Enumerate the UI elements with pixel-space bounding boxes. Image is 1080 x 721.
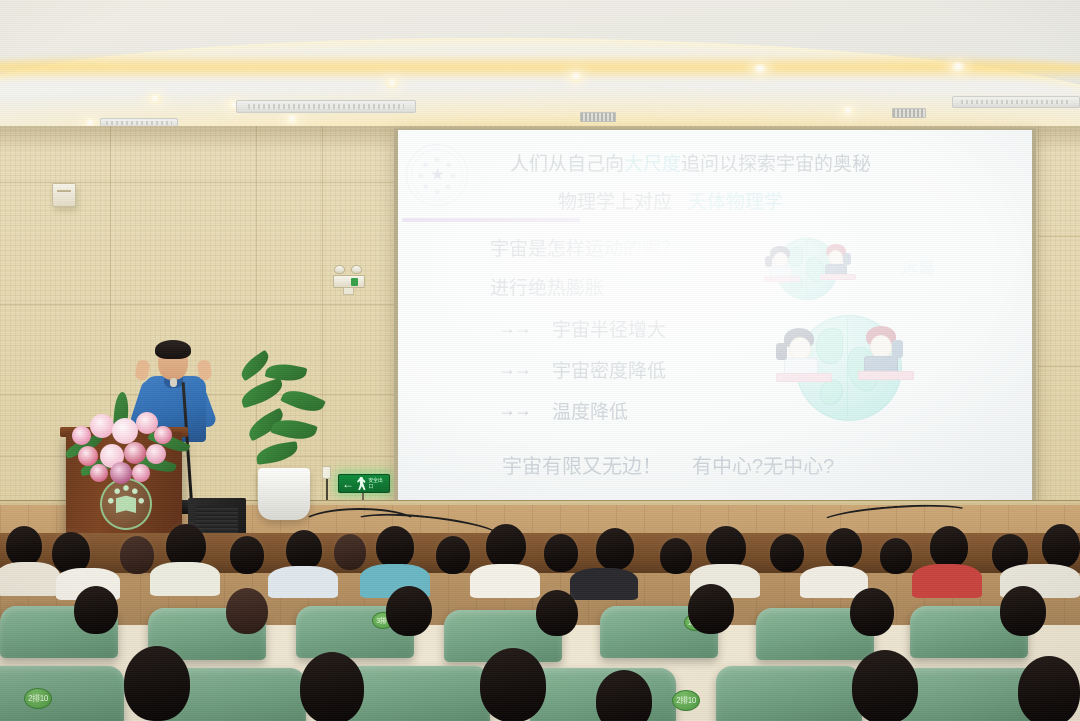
audience-head xyxy=(1042,524,1080,568)
audience-head xyxy=(852,650,918,721)
audience-head xyxy=(1000,586,1046,636)
audience-head xyxy=(230,536,264,574)
slide-conclusion-row: 宇宙有限又无边！ 有中心?无中心? xyxy=(502,450,834,479)
audience-head xyxy=(386,586,432,636)
flower xyxy=(132,464,150,482)
ac-vent xyxy=(236,100,416,113)
audience-head xyxy=(436,536,470,574)
audience-shoulders xyxy=(150,562,220,596)
audience-head xyxy=(124,646,190,721)
emergency-lamp xyxy=(334,265,345,274)
audience-head xyxy=(376,526,414,568)
slide-heading-highlight: 大尺度 xyxy=(624,154,681,175)
slide-subheading: 物理学上对应 天体物理学 xyxy=(558,190,1028,216)
cartoon-person-left-large xyxy=(776,328,840,394)
ceiling xyxy=(0,0,1080,140)
audience-head xyxy=(1018,656,1080,721)
audience-head xyxy=(300,652,364,721)
flower xyxy=(110,462,132,484)
book-icon xyxy=(116,495,136,513)
audience-head xyxy=(930,526,968,568)
arrow-icon: →→ xyxy=(498,359,530,380)
projection-screen[interactable]: 1911 人们从自己向大尺度追问以探索宇宙的奥秘 物理学上对应 天体物理学 宇宙… xyxy=(398,130,1032,509)
university-seal-icon: 1911 xyxy=(406,144,468,206)
cartoon-person-left-small xyxy=(764,246,808,290)
ceiling-downlight xyxy=(752,64,768,75)
auditorium-seat xyxy=(716,666,862,721)
audience-shoulders xyxy=(470,564,540,598)
flower xyxy=(146,444,166,464)
potted-plant xyxy=(236,358,328,518)
auditorium-seat xyxy=(0,666,124,721)
exit-arrow-icon: ← xyxy=(342,478,354,490)
audience-head xyxy=(6,526,42,566)
cove-light-strip xyxy=(0,54,1080,80)
slide-heading: 人们从自己向大尺度追问以探索宇宙的奥秘 xyxy=(510,152,1010,178)
audience-head xyxy=(226,588,268,634)
wall-utility-box xyxy=(52,183,76,207)
plant-leaf xyxy=(238,378,285,409)
desk-icon xyxy=(776,373,832,382)
audience-head xyxy=(660,538,692,574)
cartoon-person-right-small xyxy=(822,244,866,288)
slide-conclusion: 宇宙有限又无边！ xyxy=(502,450,662,479)
ceiling-downlight xyxy=(147,94,163,105)
audience-head xyxy=(880,538,912,574)
flower xyxy=(90,414,114,438)
flower xyxy=(124,442,146,464)
telephone-icon xyxy=(892,340,903,358)
exit-sign: ← 安全出口 xyxy=(338,474,390,493)
audience-head xyxy=(770,534,804,572)
exit-sign-label: 安全出口 xyxy=(368,478,386,490)
desk-icon xyxy=(858,371,914,380)
wall-panel-seam xyxy=(1038,366,1080,367)
cartoon-person-right-large xyxy=(860,326,924,392)
wall-panel-seam xyxy=(1038,126,1039,506)
audience-head xyxy=(334,534,366,570)
ceiling-grille xyxy=(892,108,926,118)
audience-head xyxy=(120,536,154,574)
slide-bullet: →→ 宇宙密度降低 xyxy=(498,356,666,383)
flower xyxy=(112,418,138,444)
telephone-icon xyxy=(776,343,787,360)
ceiling-grille xyxy=(580,112,616,122)
slide-question: 宇宙是怎样运动的呢？ xyxy=(490,234,680,261)
audience-head xyxy=(596,528,634,570)
audience-head xyxy=(74,586,118,634)
flower xyxy=(90,464,108,482)
ceiling-downlight xyxy=(950,62,966,73)
plant-pot xyxy=(258,468,310,520)
slide-annotation: 远离 xyxy=(901,254,935,279)
slide-bullet-text: 宇宙半径增大 xyxy=(552,315,666,342)
ceiling-downlight xyxy=(840,106,856,117)
audience-head xyxy=(688,584,734,634)
wall-panel-seam xyxy=(0,304,394,305)
slide-statement: 进行绝热膨胀 xyxy=(490,273,604,300)
audience-head xyxy=(544,534,578,572)
flower xyxy=(72,426,91,445)
audience-head xyxy=(826,528,862,568)
audience-head xyxy=(486,524,526,568)
presenter-hair xyxy=(155,340,191,359)
presenter-hand-right xyxy=(197,359,213,381)
wall-panel-seam xyxy=(1038,236,1080,237)
ceiling-downlight xyxy=(384,78,400,89)
desk-icon xyxy=(764,276,800,282)
plant-leaf xyxy=(255,441,299,465)
audience-area: 3排7 2排4 2排10 2排10 xyxy=(0,520,1080,721)
audience-head xyxy=(286,530,322,570)
emergency-light-stem xyxy=(343,287,354,295)
desk-icon xyxy=(820,274,856,280)
audience-shoulders xyxy=(570,568,638,600)
slide-conclusion-question: 有中心?无中心? xyxy=(692,450,834,479)
auditorium-photo: ← 安全出口 1911 人们从自己向大尺度追问以探索宇宙的奥秘 物理学上对应 天… xyxy=(0,0,1080,721)
lapel-microphone-icon xyxy=(170,378,177,387)
seat-number-tag: 2排10 xyxy=(672,690,700,711)
flower xyxy=(154,426,172,444)
seat-number-tag: 2排10 xyxy=(24,688,52,709)
emergency-lamp xyxy=(351,265,362,274)
ac-vent xyxy=(952,96,1080,108)
slide-bullet-text: 宇宙密度降低 xyxy=(552,356,666,383)
slide-bullet: →→ 宇宙半径增大 xyxy=(498,315,666,342)
emergency-light-fixture xyxy=(333,265,367,295)
ceiling-downlight xyxy=(284,114,300,125)
telephone-icon xyxy=(765,256,772,267)
telephone-icon xyxy=(843,253,851,265)
audience-shoulders xyxy=(912,564,982,598)
audience-shoulders xyxy=(268,566,338,598)
slide-heading-prefix: 人们从自己向 xyxy=(510,154,624,175)
wall-panel-seam xyxy=(0,456,394,457)
audience-head xyxy=(536,590,578,636)
audience-shoulders xyxy=(0,562,60,596)
running-man-icon xyxy=(356,477,366,490)
seal-year: 1911 xyxy=(407,195,467,200)
arrow-icon: →→ xyxy=(498,318,530,339)
ceiling-downlight xyxy=(568,72,584,83)
slide-subheading-label: 物理学上对应 xyxy=(558,192,672,213)
slide-divider-rule xyxy=(402,218,580,222)
slide-subheading-highlight: 天体物理学 xyxy=(688,192,783,213)
audience-head xyxy=(850,588,894,636)
plant-leaf xyxy=(280,384,326,418)
arrow-icon: →→ xyxy=(498,400,530,421)
audience-head xyxy=(480,648,546,721)
slide-bullet-text: 温度降低 xyxy=(552,397,628,424)
flower xyxy=(78,446,98,466)
auditorium-seat xyxy=(344,666,490,721)
flower-bouquet xyxy=(62,392,194,484)
slide-heading-suffix: 追问以探索宇宙的奥秘 xyxy=(681,154,871,175)
slide-bullet: →→ 温度降低 xyxy=(498,397,628,424)
